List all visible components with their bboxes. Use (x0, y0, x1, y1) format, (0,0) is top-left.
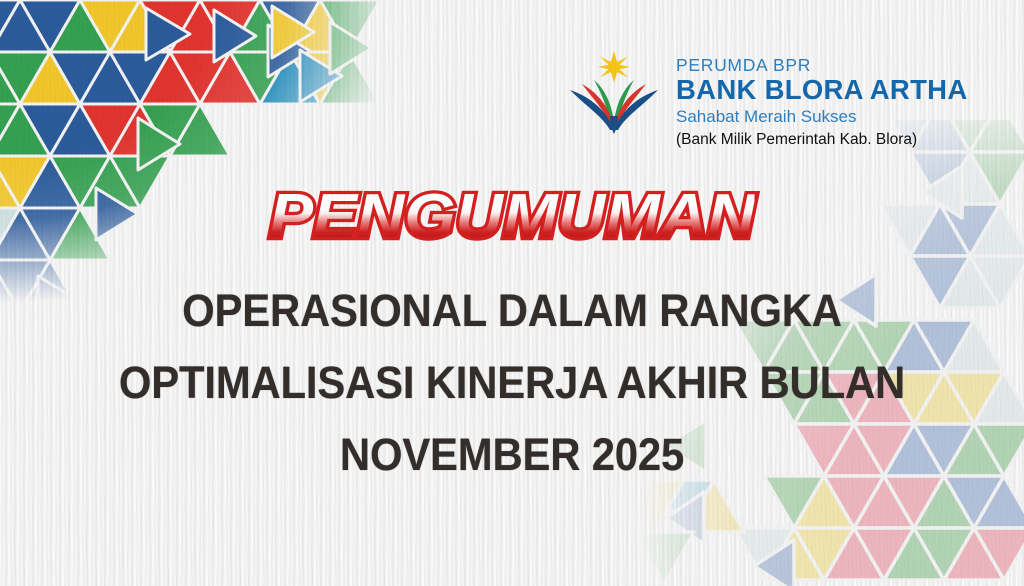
logo-line-tagline: Sahabat Meraih Sukses (676, 108, 967, 127)
bank-logo-text: PERUMDA BPR BANK BLORA ARTHA Sahabat Mer… (676, 50, 967, 148)
bank-logo-block: PERUMDA BPR BANK BLORA ARTHA Sahabat Mer… (566, 50, 967, 148)
announcement-title-stack: PENGUMUMAN PENGUMUMAN (283, 186, 741, 248)
announcement-body-line-3: NOVEMBER 2025 (36, 432, 988, 477)
announcement-body-line-1: OPERASIONAL DALAM RANGKA (36, 288, 988, 333)
bank-blora-artha-logo-icon (566, 50, 662, 134)
logo-line-bank-name: BANK BLORA ARTHA (676, 75, 967, 106)
announcement-poster: PERUMDA BPR BANK BLORA ARTHA Sahabat Mer… (0, 0, 1024, 586)
logo-line-perumda: PERUMDA BPR (676, 56, 967, 74)
logo-line-ownership: (Bank Milik Pemerintah Kab. Blora) (676, 131, 967, 148)
announcement-body-line-2: OPTIMALISASI KINERJA AKHIR BULAN (36, 360, 988, 405)
announcement-headline: PENGUMUMAN PENGUMUMAN OPERASIONAL DALAM … (0, 186, 1024, 477)
announcement-title: PENGUMUMAN (269, 186, 755, 248)
